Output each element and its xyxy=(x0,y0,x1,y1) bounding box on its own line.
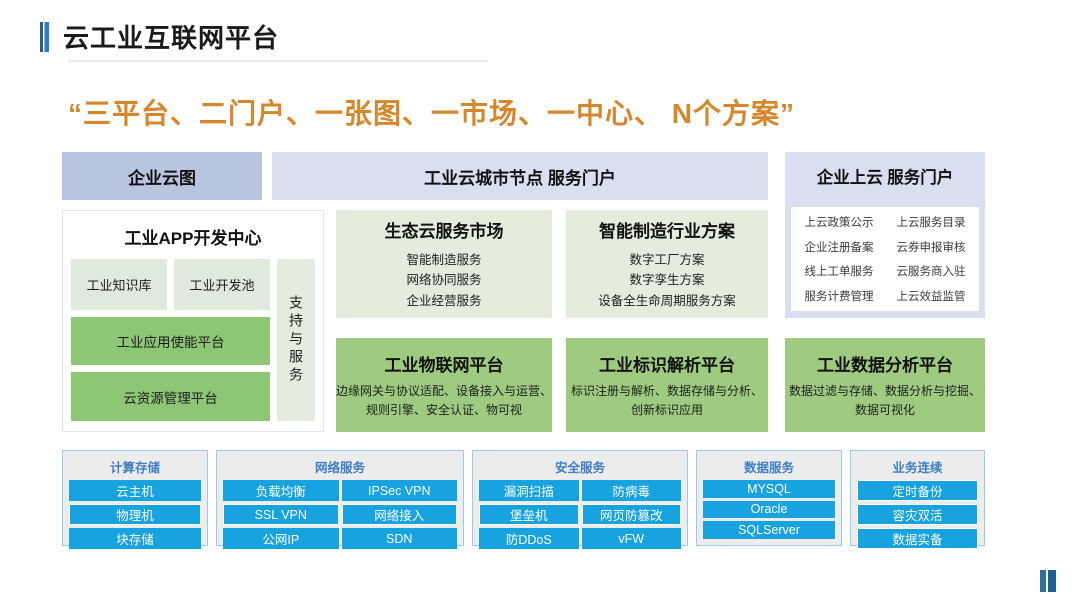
infra-tile[interactable]: 云主机 xyxy=(69,480,201,501)
card-industrial-iot-platform-line-2: 规则引擎、安全认证、物可视 xyxy=(366,401,522,420)
card-eco-cloud-service-market-line-2: 网络协同服务 xyxy=(406,270,481,291)
card-eco-cloud-service-market[interactable]: 生态云服务市场 智能制造服务 网络协同服务 企业经营服务 xyxy=(336,210,552,318)
infra-tile[interactable]: 堡垒机 xyxy=(479,504,579,525)
card-industrial-data-analytics-platform-line-1: 数据过滤与存储、数据分析与挖掘、 xyxy=(789,382,981,401)
infra-group-data-service: 数据服务 MYSQL Oracle SQLServer xyxy=(696,450,842,546)
page-subtitle: “三平台、二门户、一张图、一市场、一中心、 N个方案” xyxy=(68,92,795,132)
chip-cloud-resource-management-platform[interactable]: 云资源管理平台 xyxy=(71,372,270,421)
card-smart-manufacturing-solutions-title: 智能制造行业方案 xyxy=(599,217,735,242)
infra-tile[interactable]: 漏洞扫描 xyxy=(479,480,579,501)
header-city-node-portal-label: 工业云城市节点 服务门户 xyxy=(424,164,616,189)
infra-tile[interactable]: 网页防篡改 xyxy=(582,504,682,525)
infra-group-data-service-grid: MYSQL Oracle SQLServer xyxy=(703,480,835,539)
infra-tile[interactable]: 负载均衡 xyxy=(223,480,339,501)
support-and-service-column: 支持与服务 xyxy=(277,259,315,421)
card-industrial-iot-platform[interactable]: 工业物联网平台 边缘网关与协议适配、设备接入与运营、 规则引擎、安全认证、物可视 xyxy=(336,338,552,432)
infra-tile[interactable]: MYSQL xyxy=(703,480,835,498)
uplink-portal-item[interactable]: 云券申报审核 xyxy=(897,239,966,255)
uplink-portal-item[interactable]: 线上工单服务 xyxy=(805,263,874,279)
uplink-portal-item[interactable]: 云服务商入驻 xyxy=(897,263,966,279)
infra-tile[interactable]: 数据实备 xyxy=(857,528,978,549)
infra-tile[interactable]: 防病毒 xyxy=(582,480,682,501)
infra-group-business-continuity-grid: 定时备份 容灾双活 数据实备 xyxy=(857,480,978,549)
card-smart-manufacturing-solutions-line-1: 数字工厂方案 xyxy=(629,250,704,271)
uplink-portal-item-grid: 上云政策公示 上云服务目录 企业注册备案 云券申报审核 线上工单服务 云服务商入… xyxy=(791,207,979,311)
card-industrial-identity-resolution-platform-line-2: 创新标识应用 xyxy=(631,401,703,420)
chip-industrial-dev-pool[interactable]: 工业开发池 xyxy=(174,259,270,310)
app-center-top-chip-row: 工业知识库 工业开发池 xyxy=(71,259,270,310)
uplink-portal-item[interactable]: 服务计费管理 xyxy=(805,288,874,304)
enterprise-uplink-portal-panel: 上云政策公示 上云服务目录 企业注册备案 云券申报审核 线上工单服务 云服务商入… xyxy=(785,200,985,318)
infra-group-compute-storage: 计算存储 云主机 物理机 块存储 xyxy=(62,450,208,546)
card-industrial-data-analytics-platform[interactable]: 工业数据分析平台 数据过滤与存储、数据分析与挖掘、 数据可视化 xyxy=(785,338,985,432)
infra-group-network-service-title: 网络服务 xyxy=(223,457,457,476)
chip-cloud-resource-management-platform-label: 云资源管理平台 xyxy=(123,387,218,407)
infra-tile[interactable]: 网络接入 xyxy=(342,504,458,525)
infra-tile[interactable]: 物理机 xyxy=(69,504,201,525)
infra-group-network-service-grid: 负载均衡 IPSec VPN SSL VPN 网络接入 公网IP SDN xyxy=(223,480,457,549)
card-industrial-iot-platform-line-1: 边缘网关与协议适配、设备接入与运营、 xyxy=(336,382,552,401)
app-development-center-title: 工业APP开发中心 xyxy=(71,224,315,249)
card-industrial-identity-resolution-platform[interactable]: 工业标识解析平台 标识注册与解析、数据存储与分析、 创新标识应用 xyxy=(566,338,768,432)
infra-group-data-service-title: 数据服务 xyxy=(703,457,835,476)
title-divider xyxy=(68,60,488,62)
card-smart-manufacturing-solutions-line-3: 设备全生命周期服务方案 xyxy=(598,291,736,312)
infra-group-business-continuity-title: 业务连续 xyxy=(857,457,978,476)
chip-app-enablement-platform[interactable]: 工业应用使能平台 xyxy=(71,317,270,366)
infra-group-network-service: 网络服务 负载均衡 IPSec VPN SSL VPN 网络接入 公网IP SD… xyxy=(216,450,464,546)
infra-tile[interactable]: vFW xyxy=(582,528,682,549)
infra-group-security-service-grid: 漏洞扫描 防病毒 堡垒机 网页防篡改 防DDoS vFW xyxy=(479,480,681,549)
header-enterprise-cloud-map[interactable]: 企业云图 xyxy=(62,152,262,200)
title-accent-bar-icon xyxy=(40,22,49,52)
card-smart-manufacturing-solutions[interactable]: 智能制造行业方案 数字工厂方案 数字孪生方案 设备全生命周期服务方案 xyxy=(566,210,768,318)
corner-accent-bar-icon xyxy=(1040,570,1056,592)
card-eco-cloud-service-market-title: 生态云服务市场 xyxy=(385,217,504,242)
infra-group-compute-storage-title: 计算存储 xyxy=(69,457,201,476)
uplink-portal-item[interactable]: 上云服务目录 xyxy=(897,214,966,230)
infra-group-security-service-title: 安全服务 xyxy=(479,457,681,476)
card-eco-cloud-service-market-line-3: 企业经营服务 xyxy=(406,291,481,312)
header-enterprise-cloud-map-label: 企业云图 xyxy=(128,164,196,189)
header-enterprise-uplink-portal-label: 企业上云 服务门户 xyxy=(817,164,954,188)
card-industrial-identity-resolution-platform-title: 工业标识解析平台 xyxy=(599,351,735,376)
infra-group-compute-storage-grid: 云主机 物理机 块存储 xyxy=(69,480,201,549)
page-title-text: 云工业互联网平台 xyxy=(63,18,279,55)
uplink-portal-item[interactable]: 企业注册备案 xyxy=(805,239,874,255)
slide-canvas: 云工业互联网平台 “三平台、二门户、一张图、一市场、一中心、 N个方案” 企业云… xyxy=(0,0,1080,606)
card-industrial-iot-platform-title: 工业物联网平台 xyxy=(385,351,504,376)
infra-tile[interactable]: IPSec VPN xyxy=(342,480,458,501)
infra-tile[interactable]: Oracle xyxy=(703,501,835,519)
header-enterprise-uplink-portal[interactable]: 企业上云 服务门户 xyxy=(785,152,985,200)
app-development-center-panel: 工业APP开发中心 工业知识库 工业开发池 工业应用使能平台 云资源管理平台 xyxy=(62,210,324,432)
card-smart-manufacturing-solutions-line-2: 数字孪生方案 xyxy=(629,270,704,291)
header-city-node-portal[interactable]: 工业云城市节点 服务门户 xyxy=(272,152,768,200)
infra-tile[interactable]: SDN xyxy=(342,528,458,549)
infra-group-business-continuity: 业务连续 定时备份 容灾双活 数据实备 xyxy=(850,450,985,546)
infra-tile[interactable]: 块存储 xyxy=(69,528,201,549)
chip-industrial-knowledge-base-label: 工业知识库 xyxy=(86,275,151,294)
support-and-service-label: 支持与服务 xyxy=(286,295,306,385)
chip-industrial-knowledge-base[interactable]: 工业知识库 xyxy=(71,259,167,310)
page-title: 云工业互联网平台 xyxy=(40,18,279,55)
card-industrial-data-analytics-platform-title: 工业数据分析平台 xyxy=(817,351,953,376)
uplink-portal-item[interactable]: 上云效益监管 xyxy=(897,288,966,304)
infra-tile[interactable]: 公网IP xyxy=(223,528,339,549)
card-industrial-identity-resolution-platform-line-1: 标识注册与解析、数据存储与分析、 xyxy=(571,382,763,401)
card-eco-cloud-service-market-line-1: 智能制造服务 xyxy=(406,250,481,271)
card-industrial-data-analytics-platform-line-2: 数据可视化 xyxy=(855,401,915,420)
infra-tile[interactable]: 防DDoS xyxy=(479,528,579,549)
infra-tile[interactable]: SQLServer xyxy=(703,521,835,539)
chip-app-enablement-platform-label: 工业应用使能平台 xyxy=(117,331,225,351)
infra-tile[interactable]: 容灾双活 xyxy=(857,504,978,525)
infra-tile[interactable]: 定时备份 xyxy=(857,480,978,501)
infra-tile[interactable]: SSL VPN xyxy=(223,504,339,525)
app-center-chip-stack: 工业知识库 工业开发池 工业应用使能平台 云资源管理平台 xyxy=(71,259,270,421)
uplink-portal-item[interactable]: 上云政策公示 xyxy=(805,214,874,230)
infra-group-security-service: 安全服务 漏洞扫描 防病毒 堡垒机 网页防篡改 防DDoS vFW xyxy=(472,450,688,546)
app-development-center-body: 工业知识库 工业开发池 工业应用使能平台 云资源管理平台 支持与服务 xyxy=(71,259,315,421)
chip-industrial-dev-pool-label: 工业开发池 xyxy=(189,275,254,294)
